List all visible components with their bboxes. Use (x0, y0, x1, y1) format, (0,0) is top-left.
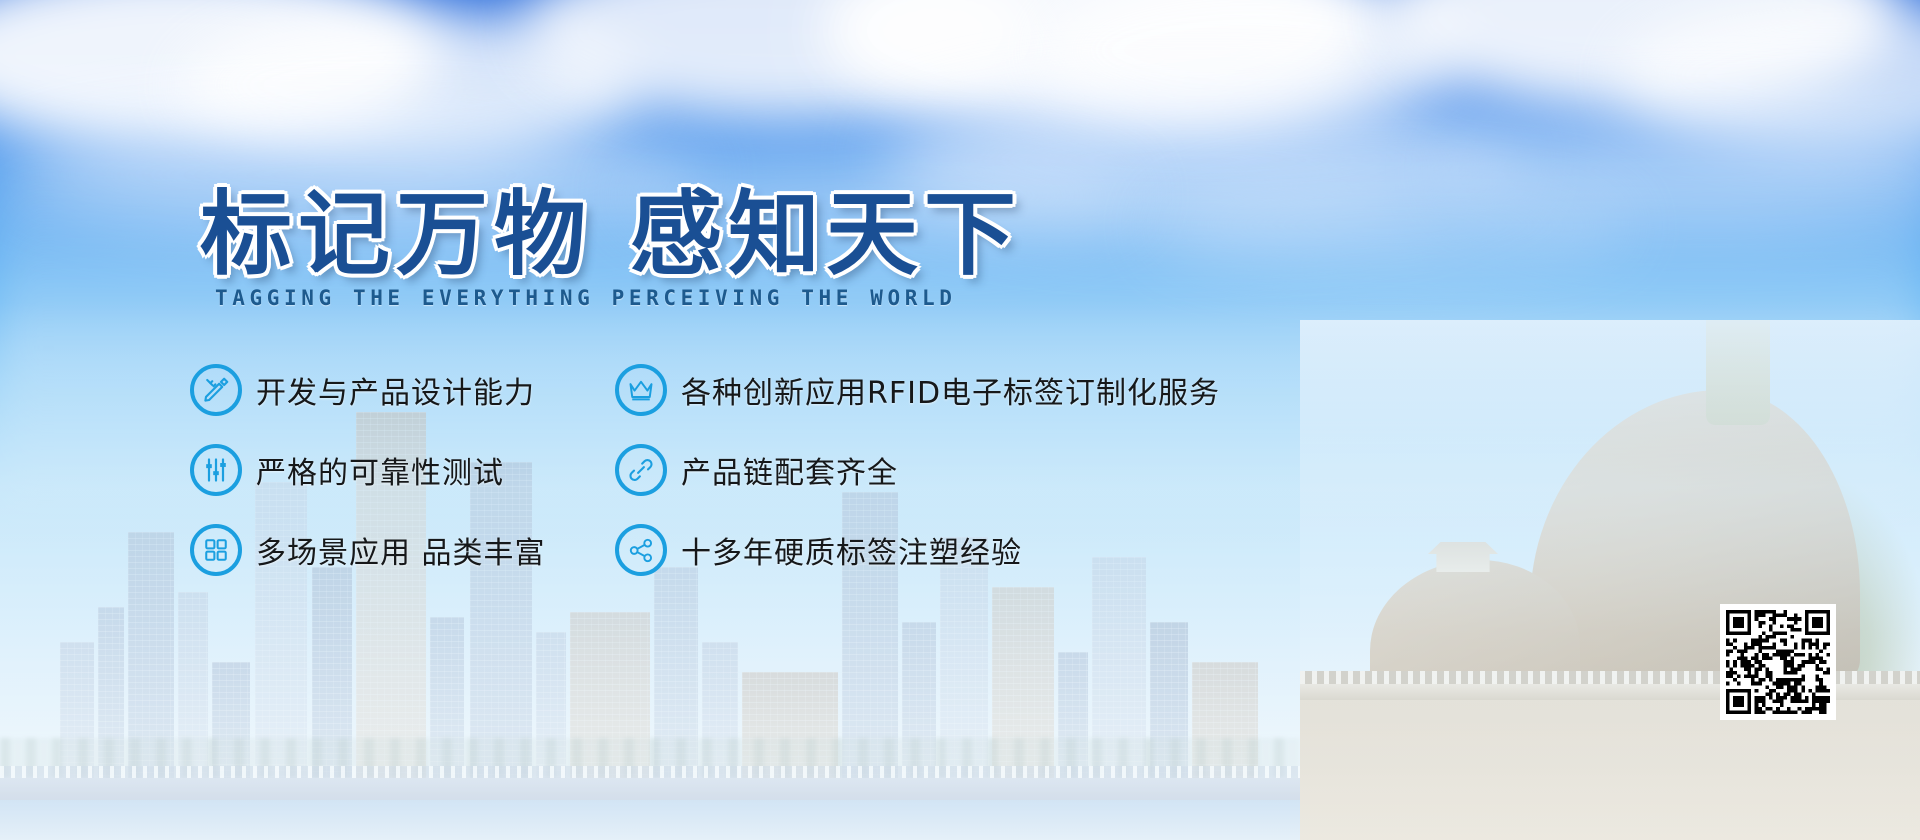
feature-row: 多场景应用 品类丰富 十多年硬质标签注塑经验 (190, 510, 1290, 590)
feature-item-rfid-service: 各种创新应用RFID电子标签订制化服务 (615, 350, 1220, 430)
feature-label: 产品链配套齐全 (681, 448, 898, 492)
feature-item-product-chain: 产品链配套齐全 (615, 430, 898, 510)
feature-list: 开发与产品设计能力 各种创新应用RFID电子标签订制化服务 (190, 350, 1290, 590)
page-subtitle: TAGGING THE EVERYTHING PERCEIVING THE WO… (215, 286, 956, 310)
feature-item-development: 开发与产品设计能力 (190, 350, 535, 430)
feature-label: 严格的可靠性测试 (256, 448, 504, 492)
feature-label: 开发与产品设计能力 (256, 368, 535, 412)
feature-row: 开发与产品设计能力 各种创新应用RFID电子标签订制化服务 (190, 350, 1290, 430)
link-icon (615, 444, 667, 496)
hero-banner: 标记万物 感知天下 TAGGING THE EVERYTHING PERCEIV… (0, 0, 1920, 840)
feature-row: 严格的可靠性测试 产品链配套齐全 (190, 430, 1290, 510)
feature-label: 各种创新应用RFID电子标签订制化服务 (681, 368, 1220, 412)
share-icon (615, 524, 667, 576)
qr-code-image (1726, 610, 1830, 714)
crown-icon (615, 364, 667, 416)
sliders-icon (190, 444, 242, 496)
feature-label: 多场景应用 品类丰富 (256, 528, 546, 572)
feature-label: 十多年硬质标签注塑经验 (681, 528, 1022, 572)
qr-code[interactable] (1720, 604, 1836, 720)
page-title: 标记万物 感知天下 (200, 160, 1022, 293)
feature-item-multi-scenario: 多场景应用 品类丰富 (190, 510, 546, 590)
grid-icon (190, 524, 242, 576)
feature-item-molding-experience: 十多年硬质标签注塑经验 (615, 510, 1022, 590)
feature-item-reliability-test: 严格的可靠性测试 (190, 430, 504, 510)
ruler-pencil-icon (190, 364, 242, 416)
